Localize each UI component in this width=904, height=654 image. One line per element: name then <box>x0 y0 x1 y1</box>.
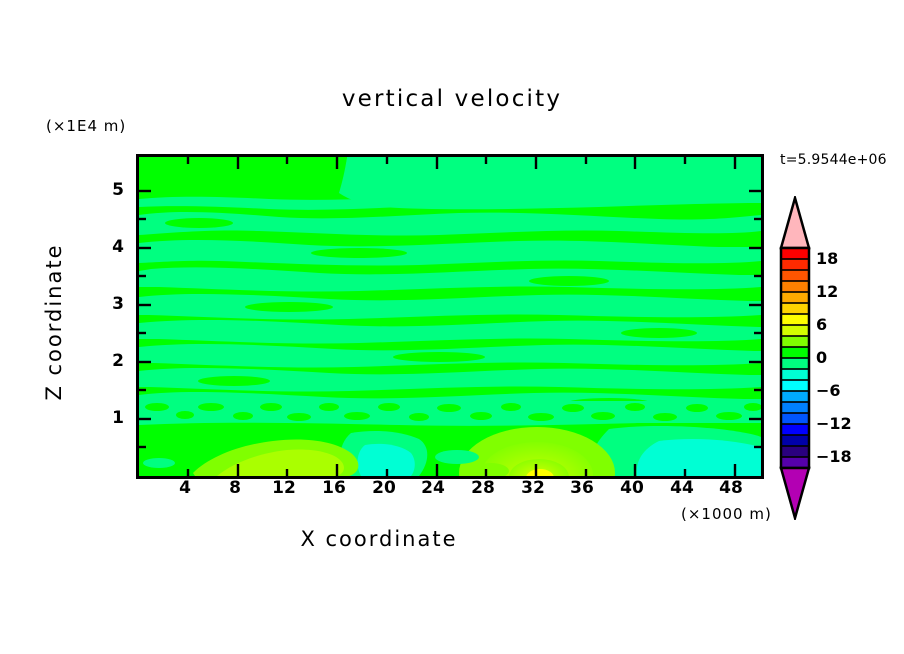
x-axis-unit-label: (×1000 m) <box>681 505 772 523</box>
colorbar[interactable] <box>778 196 812 520</box>
colorbar-swatch <box>781 402 809 413</box>
colorbar-swatch <box>781 413 809 424</box>
colorbar-swatch <box>781 380 809 391</box>
y-axis-title: Z coordinate <box>42 242 66 402</box>
figure-canvas: vertical velocity (×1E4 m) Z coordinate <box>0 0 904 654</box>
colorbar-tick-label: −6 <box>816 381 841 400</box>
z-axis-unit-label: (×1E4 m) <box>46 117 126 135</box>
x-axis-title: X coordinate <box>0 527 758 551</box>
x-tick-label: 4 <box>165 478 205 498</box>
colorbar-tick-label: 6 <box>816 315 827 334</box>
x-tick-label: 24 <box>413 478 453 498</box>
contour-field <box>139 157 761 476</box>
colorbar-swatch <box>781 270 809 281</box>
colorbar-swatch <box>781 457 809 468</box>
x-tick-label: 20 <box>364 478 404 498</box>
colorbar-tick-label: −12 <box>816 414 852 433</box>
colorbar-swatch <box>781 435 809 446</box>
colorbar-swatch <box>781 281 809 292</box>
x-tick-label: 32 <box>513 478 553 498</box>
colorbar-swatch <box>781 424 809 435</box>
colorbar-swatch <box>781 391 809 402</box>
x-tick-label: 44 <box>662 478 702 498</box>
colorbar-swatch <box>781 446 809 457</box>
colorbar-swatch <box>781 248 809 259</box>
colorbar-swatch <box>781 325 809 336</box>
colorbar-tick-label: 0 <box>816 348 827 367</box>
x-tick-label: 16 <box>314 478 354 498</box>
y-tick-label: 3 <box>98 294 124 314</box>
colorbar-swatch <box>781 314 809 325</box>
x-tick-label: 28 <box>463 478 503 498</box>
colorbar-tick-label: −18 <box>816 447 852 466</box>
colorbar-tick-label: 18 <box>816 249 838 268</box>
x-tick-label: 12 <box>264 478 304 498</box>
y-tick-label: 2 <box>98 351 124 371</box>
y-tick-label: 1 <box>98 408 124 428</box>
page-title: vertical velocity <box>0 86 904 112</box>
contour-plot-area[interactable] <box>136 154 764 479</box>
y-tick-label: 4 <box>98 237 124 257</box>
colorbar-swatch <box>781 358 809 369</box>
colorbar-swatch <box>781 369 809 380</box>
x-tick-label: 8 <box>215 478 255 498</box>
timestamp-annotation: t=5.9544e+06 <box>780 152 887 168</box>
x-tick-label: 36 <box>562 478 602 498</box>
colorbar-swatch <box>781 347 809 358</box>
colorbar-graphic <box>778 196 812 520</box>
colorbar-swatch <box>781 303 809 314</box>
y-tick-label: 5 <box>98 180 124 200</box>
colorbar-swatch <box>781 292 809 303</box>
x-tick-label: 48 <box>711 478 751 498</box>
colorbar-swatch <box>781 336 809 347</box>
x-tick-label: 40 <box>612 478 652 498</box>
colorbar-tick-label: 12 <box>816 282 838 301</box>
colorbar-swatch <box>781 259 809 270</box>
